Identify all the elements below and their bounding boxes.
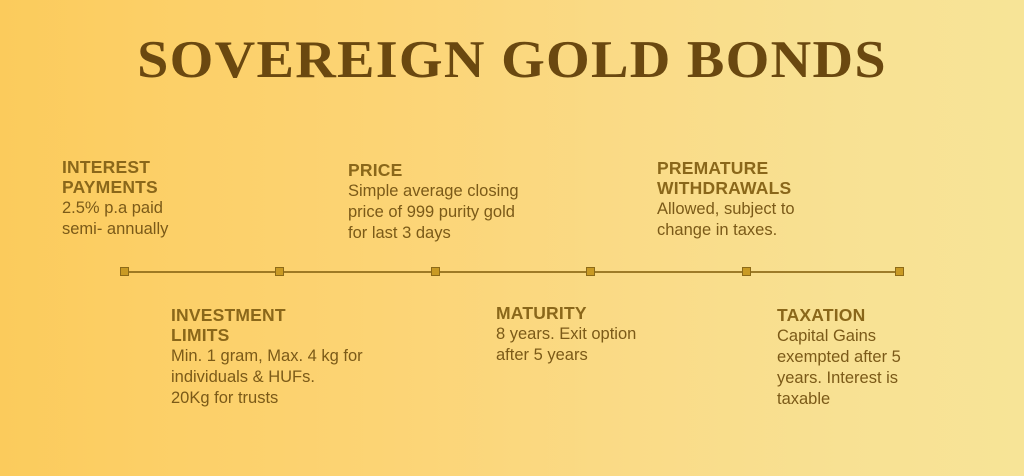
infographic-canvas: SOVEREIGN GOLD BONDS INTEREST PAYMENTS 2…	[0, 0, 1024, 476]
timeline-marker-3	[431, 267, 440, 276]
info-item-price: PRICE Simple average closing price of 99…	[348, 160, 608, 244]
info-item-body: Capital Gains exempted after 5 years. In…	[777, 326, 1024, 410]
timeline-marker-6	[895, 267, 904, 276]
timeline-marker-5	[742, 267, 751, 276]
info-item-body: 8 years. Exit option after 5 years	[496, 324, 756, 366]
info-item-taxation: TAXATION Capital Gains exempted after 5 …	[777, 305, 1024, 410]
info-item-title: PRICE	[348, 160, 608, 180]
info-item-investment-limits: INVESTMENT LIMITS Min. 1 gram, Max. 4 kg…	[171, 305, 451, 409]
info-item-title: PREMATURE WITHDRAWALS	[657, 158, 937, 198]
page-title: SOVEREIGN GOLD BONDS	[0, 31, 1024, 89]
info-item-body: 2.5% p.a paid semi- annually	[62, 198, 322, 240]
timeline-line	[124, 271, 900, 273]
timeline-marker-1	[120, 267, 129, 276]
timeline-marker-4	[586, 267, 595, 276]
info-item-title: INVESTMENT LIMITS	[171, 305, 451, 345]
info-item-body: Simple average closing price of 999 puri…	[348, 181, 608, 244]
info-item-title: MATURITY	[496, 303, 756, 323]
info-item-title: TAXATION	[777, 305, 1024, 325]
info-item-body: Allowed, subject to change in taxes.	[657, 199, 937, 241]
timeline	[120, 271, 904, 273]
info-item-interest-payments: INTEREST PAYMENTS 2.5% p.a paid semi- an…	[62, 157, 322, 240]
timeline-marker-2	[275, 267, 284, 276]
info-item-maturity: MATURITY 8 years. Exit option after 5 ye…	[496, 303, 756, 366]
info-item-premature-withdrawals: PREMATURE WITHDRAWALS Allowed, subject t…	[657, 158, 937, 241]
info-item-title: INTEREST PAYMENTS	[62, 157, 322, 197]
info-item-body: Min. 1 gram, Max. 4 kg for individuals &…	[171, 346, 451, 409]
